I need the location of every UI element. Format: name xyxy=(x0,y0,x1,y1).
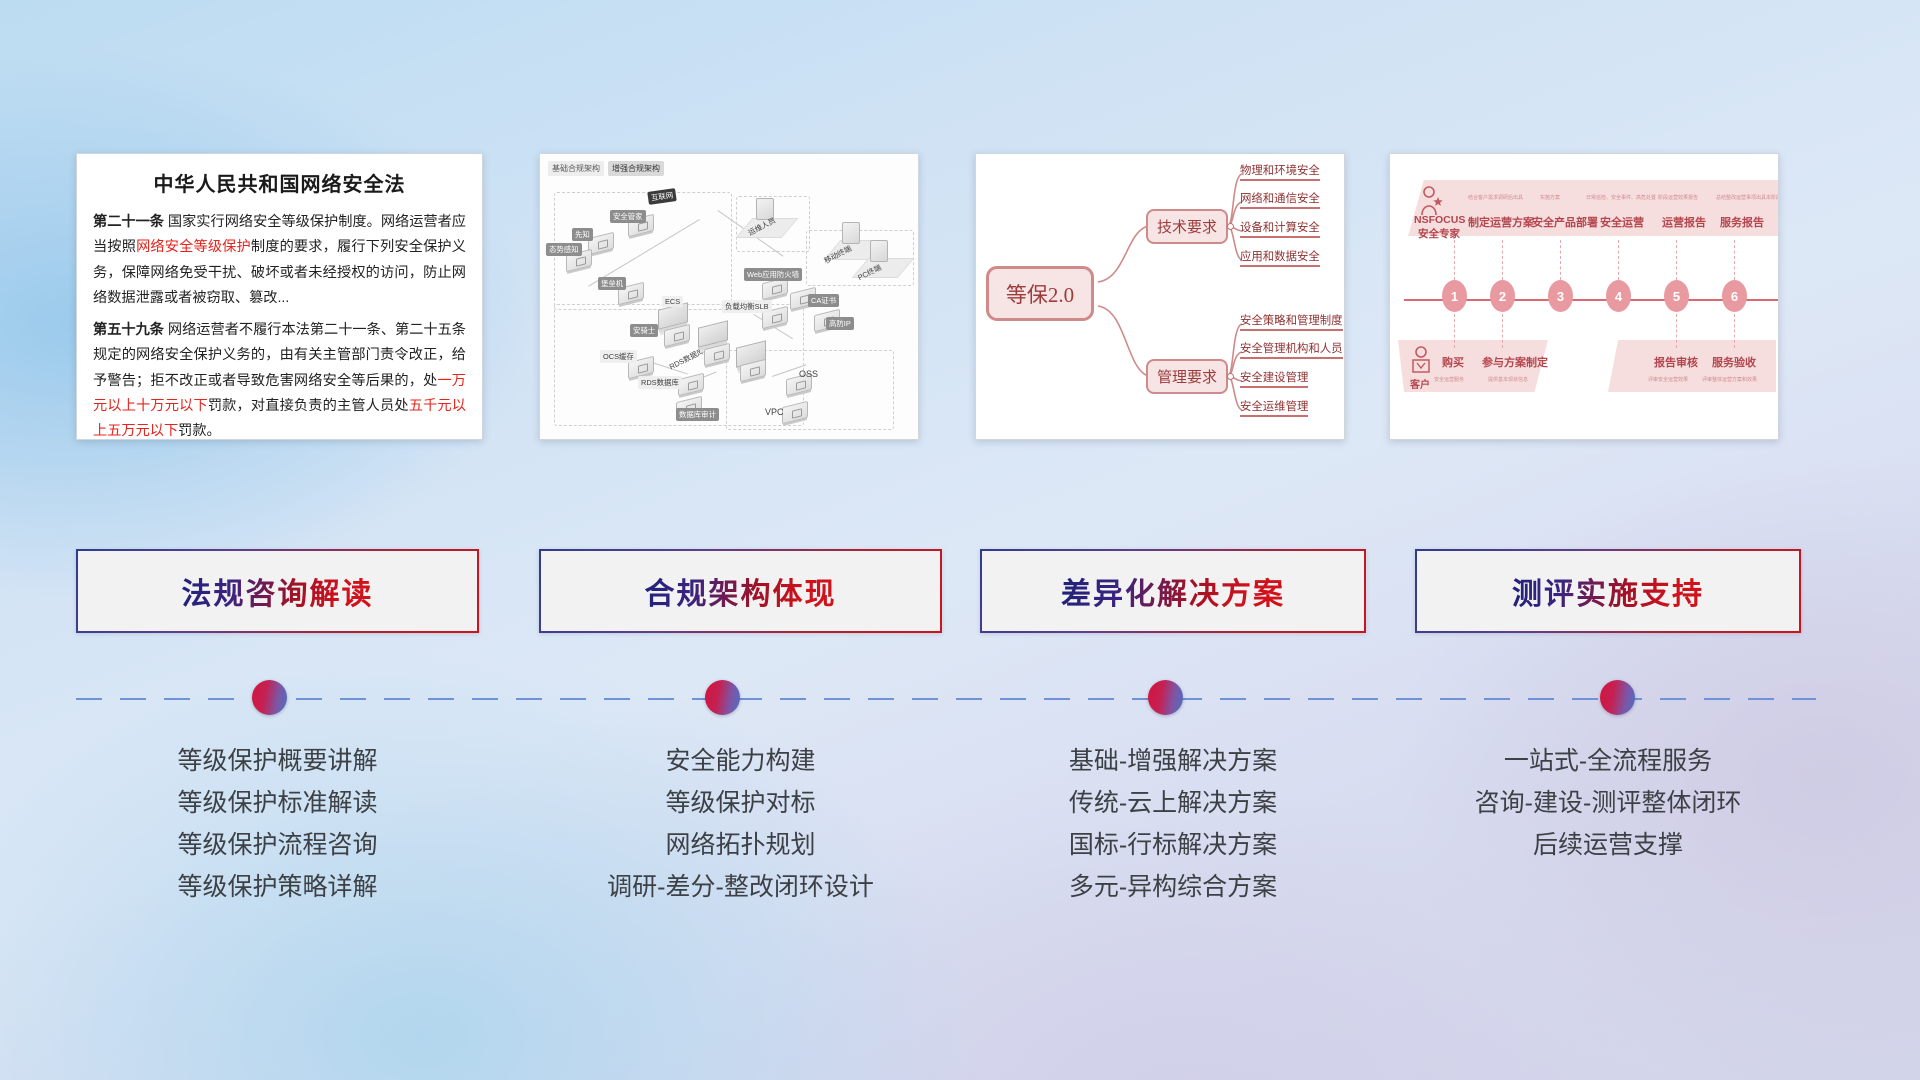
label-waf: Web应用防火墙 xyxy=(744,268,802,281)
label-situation-awareness: 态势感知 xyxy=(546,243,582,256)
timeline-bottom-title-3: 报告审核 xyxy=(1654,354,1698,370)
article-21-label: 第二十一条 xyxy=(93,214,164,230)
tab-enhanced-architecture[interactable]: 增强合规架构 xyxy=(608,161,664,176)
timeline-dash-b1 xyxy=(1454,314,1455,348)
article-21-highlight: 网络安全等级保护 xyxy=(136,239,251,255)
customer-person-icon xyxy=(1410,346,1432,376)
label-agent: 安骑士 xyxy=(630,324,658,337)
label-slb: 负载均衡SLB xyxy=(722,300,772,313)
timeline-node-2[interactable]: 2 xyxy=(1490,280,1515,312)
pillar-item: 多元-异构综合方案 xyxy=(980,866,1366,908)
pillar-item: 国标-行标解决方案 xyxy=(980,824,1366,866)
timeline-dash-2 xyxy=(1502,240,1503,280)
mindmap: 等保2.0 技术要求 物理和环境安全 网络和通信安全 设备和计算安全 应用和数据… xyxy=(976,154,1344,439)
timeline-top-sub-6: 总结整改运营事项出具本阶段 xyxy=(1716,194,1779,201)
timeline-node-1[interactable]: 1 xyxy=(1442,280,1467,312)
timeline-top-title-3: 安全产品部署 xyxy=(1532,214,1598,230)
timeline-top-sub-3: 实施方案 xyxy=(1540,194,1560,201)
timeline-node-4[interactable]: 4 xyxy=(1606,280,1631,312)
mindmap-leaf-mgmt-4[interactable]: 安全运维管理 xyxy=(1240,398,1308,417)
pillar-title-box-2[interactable]: 合规架构体现 xyxy=(539,549,942,633)
timeline-top-sub-4: 日常巡检、安全事件、高危处置 xyxy=(1586,194,1656,201)
pillar-title-1: 法规咨询解读 xyxy=(182,569,374,613)
law-article-59: 第五十九条 网络运营者不履行本法第二十一条、第二十五条规定的网络安全保护义务的，… xyxy=(93,318,466,440)
card-mindmap-dengbao[interactable]: 等保2.0 技术要求 物理和环境安全 网络和通信安全 设备和计算安全 应用和数据… xyxy=(975,153,1345,440)
timeline-bottom-title-4: 服务验收 xyxy=(1712,354,1756,370)
timeline-dash-3 xyxy=(1560,240,1561,280)
expert-person-icon xyxy=(1418,186,1444,216)
timeline-bottom-title-2: 参与方案制定 xyxy=(1482,354,1548,370)
timeline-dash-4 xyxy=(1618,240,1619,280)
pillar-item: 基础-增强解决方案 xyxy=(980,740,1366,782)
timeline-dash-b4 xyxy=(1734,314,1735,348)
label-bastion: 堡垒机 xyxy=(598,277,626,290)
timeline-dash-5 xyxy=(1676,240,1677,280)
pillar-item: 咨询-建设-测评整体闭环 xyxy=(1415,782,1801,824)
mindmap-leaf-mgmt-3[interactable]: 安全建设管理 xyxy=(1240,369,1308,388)
article-59-text-b: 罚款，对直接负责的主管人员处 xyxy=(208,398,409,414)
pillar-title-box-4[interactable]: 测评实施支持 xyxy=(1415,549,1801,633)
pillar-items-3: 基础-增强解决方案 传统-云上解决方案 国标-行标解决方案 多元-异构综合方案 xyxy=(980,740,1366,908)
timeline-top-sub-5: 阶段运营效果报告 xyxy=(1658,194,1698,201)
rail-node-1[interactable] xyxy=(252,680,287,715)
pillar-items-1: 等级保护概要讲解 等级保护标准解读 等级保护流程咨询 等级保护策略详解 xyxy=(76,740,479,908)
timeline-node-6[interactable]: 6 xyxy=(1722,280,1747,312)
pillar-item: 调研-差分-整改闭环设计 xyxy=(539,866,942,908)
timeline-bottom-sub-2: 提供基本现状信息 xyxy=(1488,376,1528,383)
timeline-top-sub-2: 结合客户需求调研后出具 xyxy=(1468,194,1523,201)
label-db-audit: 数据库审计 xyxy=(676,408,719,421)
service-timeline: NSFOCUS 安全专家 结合客户需求调研后出具 制定运营方案 实施方案 安全产… xyxy=(1390,154,1778,439)
timeline-bottom-title-1: 购买 xyxy=(1442,354,1464,370)
architecture-diagram: 基础合规架构 增强合规架构 互联网 安全管家 先知 态势感知 堡垒机 xyxy=(540,154,918,439)
collapse-dot-icon-management[interactable] xyxy=(1227,373,1234,380)
timeline-node-5[interactable]: 5 xyxy=(1664,280,1689,312)
card-cybersecurity-law[interactable]: 中华人民共和国网络安全法 第二十一条 国家实行网络安全等级保护制度。网络运营者应… xyxy=(76,153,483,440)
label-foresight: 先知 xyxy=(572,228,593,241)
label-security-steward: 安全管家 xyxy=(610,210,646,223)
timeline-dash-b2 xyxy=(1502,314,1503,348)
label-anti-ddos: 高防IP xyxy=(826,317,854,330)
pillar-title-box-3[interactable]: 差异化解决方案 xyxy=(980,549,1366,633)
mindmap-branch-technical[interactable]: 技术要求 xyxy=(1146,209,1228,244)
mindmap-leaf-mgmt-2[interactable]: 安全管理机构和人员 xyxy=(1240,340,1343,359)
pillar-item: 后续运营支撑 xyxy=(1415,824,1801,866)
pillar-items-2: 安全能力构建 等级保护对标 网络拓扑规划 调研-差分-整改闭环设计 xyxy=(539,740,942,908)
label-rds: RDS数据库 xyxy=(638,376,682,389)
timeline-top-title-4: 安全运营 xyxy=(1600,214,1644,230)
timeline-brand-sub: 安全专家 xyxy=(1418,226,1460,241)
timeline-top-title-6: 服务报告 xyxy=(1720,214,1764,230)
pillar-item: 传统-云上解决方案 xyxy=(980,782,1366,824)
timeline-dash-b3 xyxy=(1676,314,1677,348)
mindmap-leaf-tech-1[interactable]: 物理和环境安全 xyxy=(1240,162,1320,181)
mindmap-root-node[interactable]: 等保2.0 xyxy=(986,266,1094,321)
label-oss: OSS xyxy=(796,368,821,380)
label-ocs-cache: OCS缓存 xyxy=(600,350,637,363)
card-service-timeline[interactable]: NSFOCUS 安全专家 结合客户需求调研后出具 制定运营方案 实施方案 安全产… xyxy=(1389,153,1779,440)
rail-node-3[interactable] xyxy=(1148,680,1183,715)
mindmap-leaf-tech-2[interactable]: 网络和通信安全 xyxy=(1240,190,1320,209)
timeline-top-title-5: 运营报告 xyxy=(1662,214,1706,230)
collapse-dot-icon-technical[interactable] xyxy=(1227,223,1234,230)
label-ecs: ECS xyxy=(662,296,683,307)
pillar-item: 一站式-全流程服务 xyxy=(1415,740,1801,782)
pillar-title-4: 测评实施支持 xyxy=(1512,569,1704,613)
timeline-dash-1 xyxy=(1454,240,1455,280)
pillar-item: 等级保护概要讲解 xyxy=(76,740,479,782)
timeline-rail xyxy=(76,698,1816,700)
label-vpc: VPC xyxy=(762,406,787,418)
pillar-item: 安全能力构建 xyxy=(539,740,942,782)
pillar-item: 网络拓扑规划 xyxy=(539,824,942,866)
pillar-title-box-1[interactable]: 法规咨询解读 xyxy=(76,549,479,633)
card-cloud-architecture[interactable]: 基础合规架构 增强合规架构 互联网 安全管家 先知 态势感知 堡垒机 xyxy=(539,153,919,440)
mindmap-leaf-tech-3[interactable]: 设备和计算安全 xyxy=(1240,219,1320,238)
law-article-21: 第二十一条 国家实行网络安全等级保护制度。网络运营者应当按照网络安全等级保护制度… xyxy=(93,210,466,311)
slide-canvas: 中华人民共和国网络安全法 第二十一条 国家实行网络安全等级保护制度。网络运营者应… xyxy=(0,0,1920,1080)
article-59-label: 第五十九条 xyxy=(93,322,164,338)
pillar-items-4: 一站式-全流程服务 咨询-建设-测评整体闭环 后续运营支撑 xyxy=(1415,740,1801,866)
rail-node-4[interactable] xyxy=(1600,680,1635,715)
timeline-bottom-sub-3: 评审安全运营效果 xyxy=(1648,376,1688,383)
pillar-item: 等级保护策略详解 xyxy=(76,866,479,908)
mindmap-branch-management[interactable]: 管理要求 xyxy=(1146,359,1228,394)
architecture-tabs[interactable]: 基础合规架构 增强合规架构 xyxy=(548,161,664,176)
mindmap-leaf-tech-4[interactable]: 应用和数据安全 xyxy=(1240,248,1320,267)
terminal-icon-pc xyxy=(870,240,888,262)
label-ca-certificate: CA证书 xyxy=(808,294,839,307)
pillar-item: 等级保护流程咨询 xyxy=(76,824,479,866)
mindmap-leaf-mgmt-1[interactable]: 安全策略和管理制度 xyxy=(1240,312,1343,331)
pillar-item: 等级保护标准解读 xyxy=(76,782,479,824)
timeline-customer-label: 客户 xyxy=(1410,376,1430,391)
timeline-dash-6 xyxy=(1734,240,1735,280)
timeline-bottom-sub-1: 安全运营服务 xyxy=(1434,376,1464,383)
law-title: 中华人民共和国网络安全法 xyxy=(93,168,466,197)
article-59-text-c: 罚款。 xyxy=(178,423,221,439)
law-text-block: 中华人民共和国网络安全法 第二十一条 国家实行网络安全等级保护制度。网络运营者应… xyxy=(77,154,482,440)
pillar-title-3: 差异化解决方案 xyxy=(1061,569,1285,613)
rail-node-2[interactable] xyxy=(705,680,740,715)
tab-basic-architecture[interactable]: 基础合规架构 xyxy=(548,161,604,176)
timeline-bottom-sub-4: 评审整体运营方案和效果 xyxy=(1702,376,1757,383)
pillar-title-2: 合规架构体现 xyxy=(645,569,837,613)
timeline-node-3[interactable]: 3 xyxy=(1548,280,1573,312)
timeline-top-title-2: 制定运营方案 xyxy=(1468,214,1534,230)
timeline-brand: NSFOCUS xyxy=(1414,214,1465,226)
pillar-item: 等级保护对标 xyxy=(539,782,942,824)
